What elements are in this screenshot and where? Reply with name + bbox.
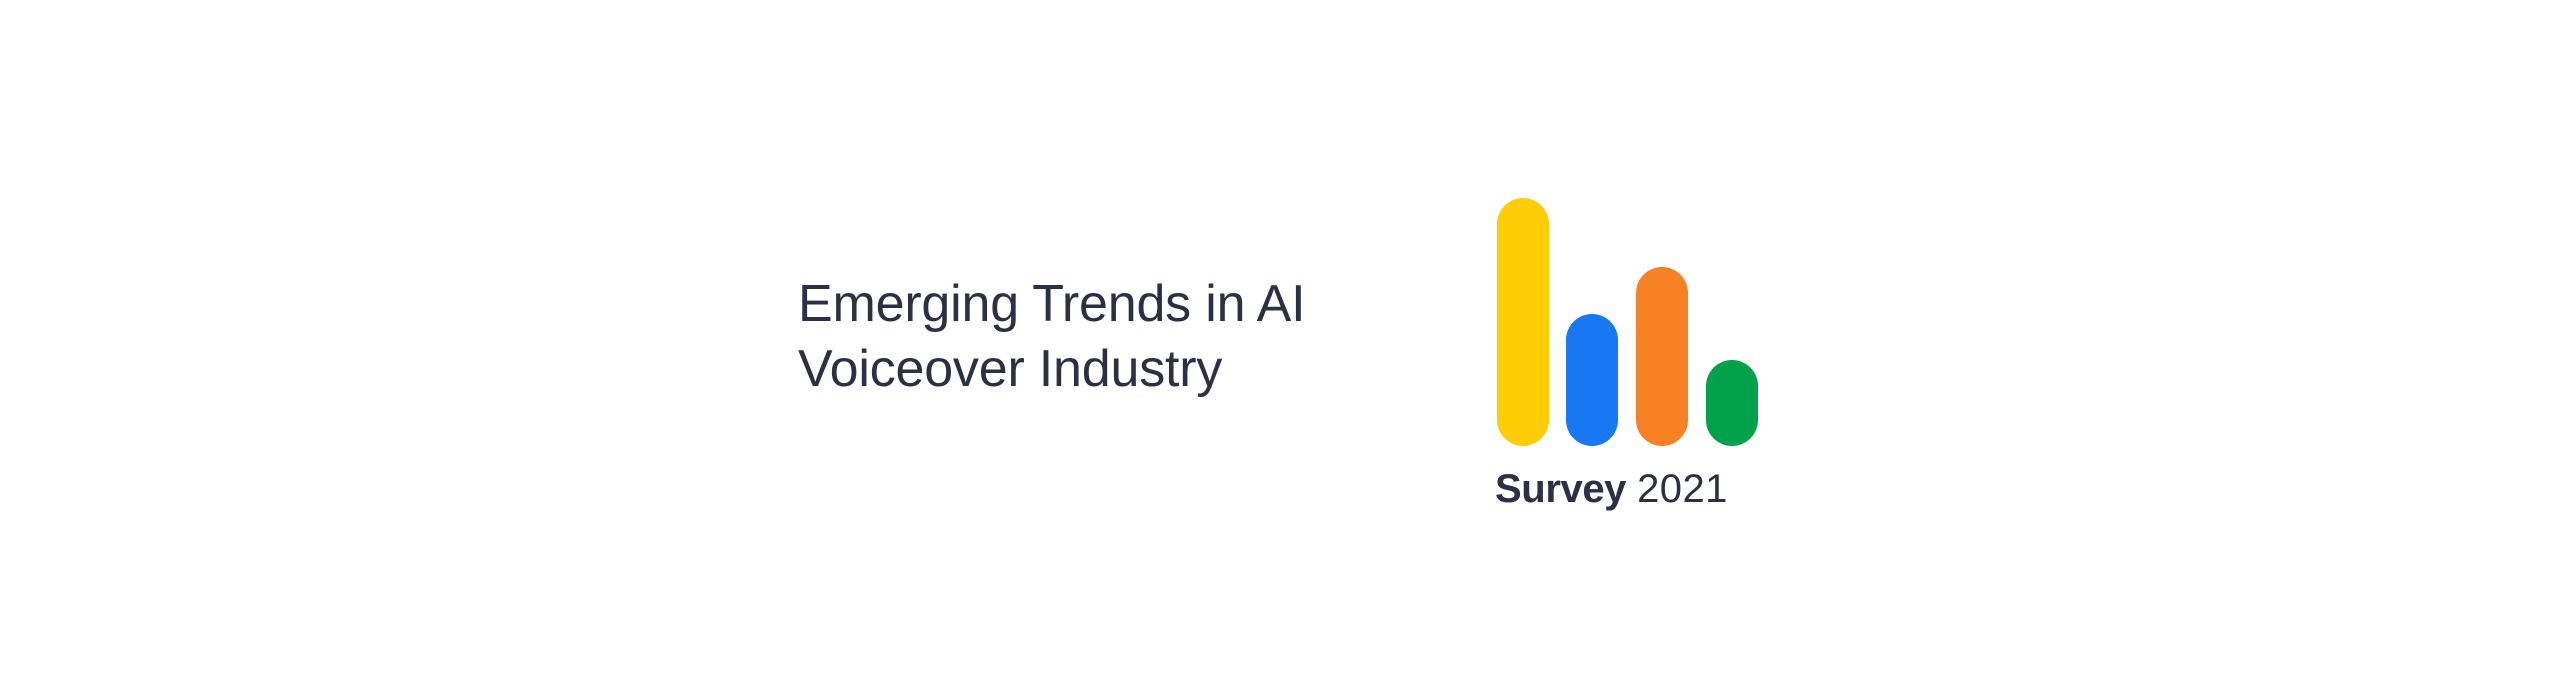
logo-bar-blue bbox=[1566, 314, 1618, 446]
logo-wordmark-year: 2021 bbox=[1637, 467, 1728, 511]
logo-wordmark: Survey 2021 bbox=[1495, 466, 1728, 512]
logo-bar-orange bbox=[1636, 267, 1688, 446]
survey-logo: Survey 2021 bbox=[1495, 198, 1775, 528]
page-title-line-1: Emerging Trends in AI bbox=[798, 272, 1418, 337]
page-title-line-2: Voiceover Industry bbox=[798, 337, 1418, 402]
page-title: Emerging Trends in AI Voiceover Industry bbox=[798, 272, 1418, 402]
logo-wordmark-survey: Survey bbox=[1495, 467, 1626, 511]
logo-bar-green bbox=[1706, 360, 1758, 446]
logo-bar-yellow bbox=[1497, 198, 1549, 446]
slide-canvas: Emerging Trends in AI Voiceover Industry… bbox=[0, 0, 2560, 690]
bar-chart-logo-icon bbox=[1495, 198, 1761, 446]
